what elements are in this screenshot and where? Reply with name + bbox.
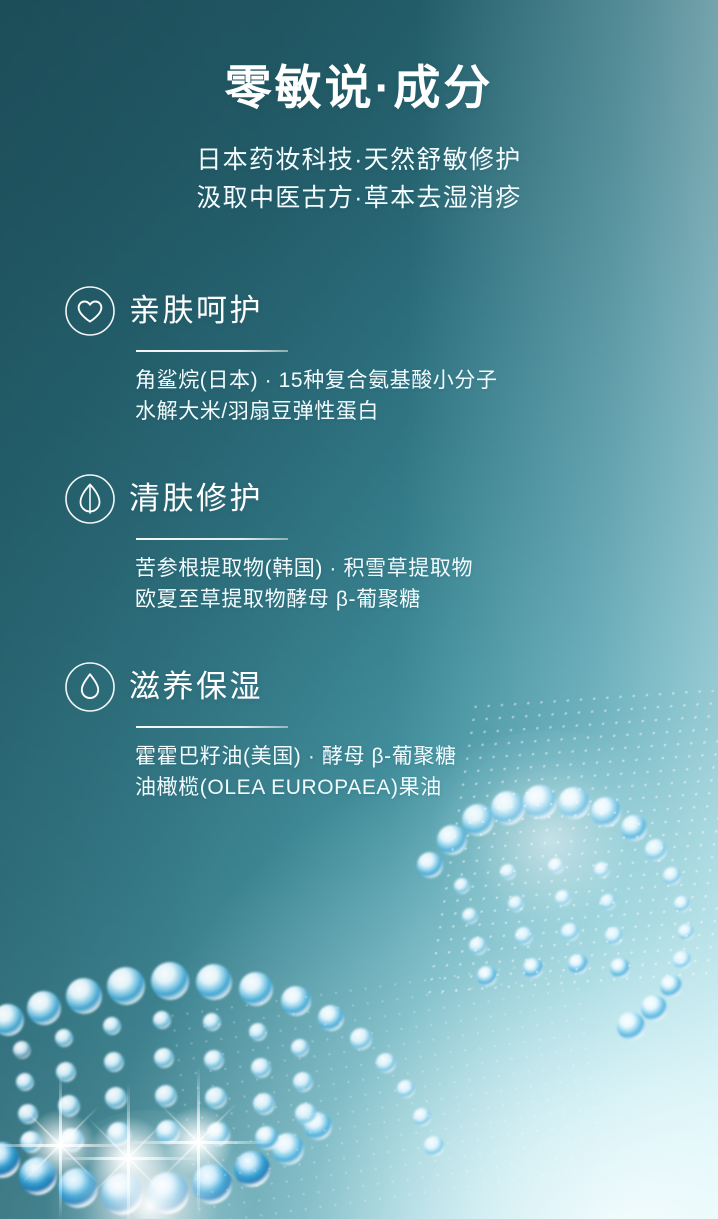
heart-in-circle-icon (62, 283, 118, 339)
subtitle-line-2: 汲取中医古方·草本去湿消疹 (0, 179, 718, 217)
feature-line: 角鲨烷(日本) · 15种复合氨基酸小分子 (135, 365, 718, 396)
feature-heading-row: 清肤修护 (62, 471, 718, 527)
feature-line: 水解大米/羽扇豆弹性蛋白 (135, 396, 718, 427)
feature-item-skin-care: 亲肤呵护 角鲨烷(日本) · 15种复合氨基酸小分子 水解大米/羽扇豆弹性蛋白 (62, 283, 718, 427)
poster-header: 零敏说·成分 日本药妆科技·天然舒敏修护 汲取中医古方·草本去湿消疹 (0, 0, 718, 217)
dna-helix-svg (0, 690, 718, 1219)
feature-heading-row: 亲肤呵护 (62, 283, 718, 339)
feature-title: 清肤修护 (129, 483, 263, 514)
poster-canvas: 零敏说·成分 日本药妆科技·天然舒敏修护 汲取中医古方·草本去湿消疹 亲肤呵护 … (0, 0, 718, 1219)
page-title: 零敏说·成分 (0, 62, 718, 115)
helix-strand-rear (417, 785, 694, 1040)
feature-divider (136, 350, 288, 352)
helix-base-pairs (13, 858, 630, 1153)
subtitle-line-1: 日本药妆科技·天然舒敏修护 (0, 141, 718, 179)
feature-divider (136, 538, 288, 540)
dna-double-helix-illustration (0, 690, 718, 1219)
subtitle-group: 日本药妆科技·天然舒敏修护 汲取中医古方·草本去湿消疹 (0, 141, 718, 217)
feature-body: 角鲨烷(日本) · 15种复合氨基酸小分子 水解大米/羽扇豆弹性蛋白 (135, 365, 718, 427)
feature-body: 苦参根提取物(韩国) · 积雪草提取物 欧夏至草提取物酵母 β-葡聚糖 (135, 553, 718, 615)
feature-line: 欧夏至草提取物酵母 β-葡聚糖 (135, 584, 718, 615)
leaf-in-circle-icon (62, 471, 118, 527)
feature-title: 亲肤呵护 (129, 295, 263, 326)
feature-item-skin-repair: 清肤修护 苦参根提取物(韩国) · 积雪草提取物 欧夏至草提取物酵母 β-葡聚糖 (62, 471, 718, 615)
feature-line: 苦参根提取物(韩国) · 积雪草提取物 (135, 553, 718, 584)
